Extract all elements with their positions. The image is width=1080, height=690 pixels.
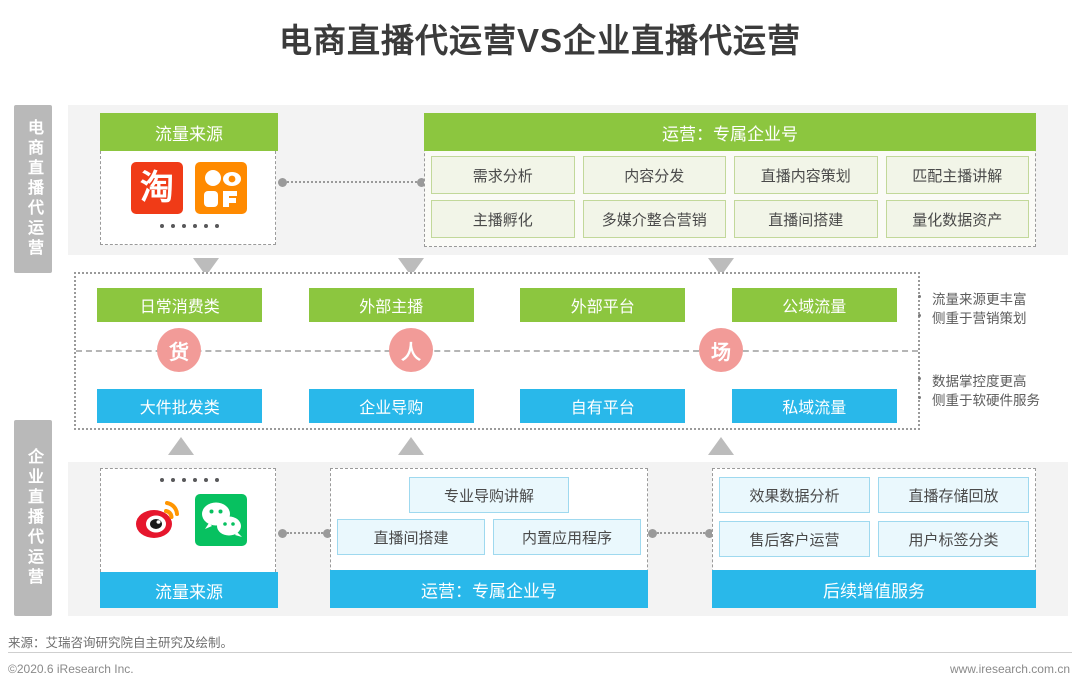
middle-blue-cell: 企业导购 <box>286 389 498 423</box>
enterprise-ops-item[interactable]: 直播间搭建 <box>337 519 485 555</box>
enterprise-ops-second-row: 直播间搭建 内置应用程序 <box>337 519 641 555</box>
ecommerce-panel: 流量来源 淘 <box>68 105 1068 255</box>
enterprise-source-footer: 流量来源 <box>100 572 278 608</box>
middle-blue-cell: 自有平台 <box>497 389 709 423</box>
wechat-logo <box>195 494 247 546</box>
ops-item[interactable]: 多媒介整合营销 <box>583 200 727 238</box>
enterprise-connector-left <box>278 528 332 538</box>
kuaishou-logo <box>195 162 247 214</box>
infographic-page: 电商直播代运营VS企业直播代运营 电商直播代运营 企业直播代运营 流量来源 淘 <box>0 0 1080 690</box>
note-top-line: 流量来源更丰富 <box>930 290 1078 309</box>
ecommerce-operations-grid: 需求分析 内容分发 直播内容策划 匹配主播讲解 主播孵化 多媒介整合营销 直播间… <box>431 156 1029 238</box>
enterprise-value-added-footer: 后续增值服务 <box>712 570 1036 608</box>
middle-blue-row: 大件批发类 企业导购 自有平台 私域流量 <box>74 389 920 423</box>
enterprise-traffic-source-block: 流量来源 <box>100 468 278 608</box>
value-added-item[interactable]: 直播存储回放 <box>878 477 1029 513</box>
note-top: 流量来源更丰富 侧重于营销策划 <box>930 290 1078 328</box>
page-title: 电商直播代运营VS企业直播代运营 <box>0 14 1080 62</box>
ops-item[interactable]: 直播内容策划 <box>734 156 878 194</box>
ecommerce-source-dots <box>101 221 277 231</box>
connector-line <box>287 532 323 534</box>
note-bottom-line: 侧重于软硬件服务 <box>930 391 1078 410</box>
website-url[interactable]: www.iresearch.com.cn <box>950 662 1070 676</box>
middle-green-cell: 外部平台 <box>497 288 709 322</box>
circle-venue: 场 <box>699 328 743 372</box>
ops-item[interactable]: 内容分发 <box>583 156 727 194</box>
middle-green-box[interactable]: 公域流量 <box>732 288 897 322</box>
enterprise-panel: 流量来源 专业导购讲解 直播间搭建 内置应用程序 运营：专属企业号 效果数据分析 <box>68 462 1068 616</box>
circle-people: 人 <box>389 328 433 372</box>
footer-divider <box>8 652 1072 653</box>
ecommerce-logo-row: 淘 <box>101 157 277 219</box>
middle-blue-box[interactable]: 企业导购 <box>309 389 474 423</box>
middle-green-cell: 外部主播 <box>286 288 498 322</box>
note-top-line: 侧重于营销策划 <box>930 309 1078 328</box>
value-added-item[interactable]: 售后客户运营 <box>719 521 870 557</box>
ecommerce-traffic-source-block: 流量来源 淘 <box>100 113 278 247</box>
enterprise-source-dots <box>101 475 277 485</box>
middle-green-row: 日常消费类 外部主播 外部平台 公域流量 <box>74 288 920 322</box>
rail-label-enterprise: 企业直播代运营 <box>14 420 52 616</box>
note-bottom: 数据掌控度更高 侧重于软硬件服务 <box>930 372 1078 410</box>
arrow-up-icon <box>708 437 734 455</box>
copyright-text: ©2020.6 iResearch Inc. <box>8 662 134 676</box>
rail-label-ecommerce: 电商直播代运营 <box>14 105 52 273</box>
ops-item[interactable]: 主播孵化 <box>431 200 575 238</box>
middle-blue-cell: 私域流量 <box>709 389 921 423</box>
source-note: 来源：艾瑞咨询研究院自主研究及绘制。 <box>8 632 233 651</box>
enterprise-value-added-block: 效果数据分析 直播存储回放 售后客户运营 用户标签分类 后续增值服务 <box>712 468 1036 608</box>
ops-item[interactable]: 直播间搭建 <box>734 200 878 238</box>
ecommerce-operations-block: 运营：专属企业号 需求分析 内容分发 直播内容策划 匹配主播讲解 主播孵化 多媒… <box>424 113 1036 247</box>
circle-goods: 货 <box>157 328 201 372</box>
ecommerce-operations-header: 运营：专属企业号 <box>424 113 1036 151</box>
ecommerce-source-body: 淘 <box>100 151 276 245</box>
enterprise-logo-row <box>101 487 277 553</box>
middle-blue-cell: 大件批发类 <box>74 389 286 423</box>
connector-line <box>657 532 705 534</box>
middle-blue-box[interactable]: 私域流量 <box>732 389 897 423</box>
ops-item[interactable]: 量化数据资产 <box>886 200 1030 238</box>
note-bullets-top <box>918 295 928 333</box>
connector-knob-left <box>278 529 287 538</box>
enterprise-ops-item[interactable]: 专业导购讲解 <box>409 477 569 513</box>
middle-divider <box>76 350 918 352</box>
arrow-up-icon <box>398 437 424 455</box>
value-added-item[interactable]: 用户标签分类 <box>878 521 1029 557</box>
value-added-item[interactable]: 效果数据分析 <box>719 477 870 513</box>
note-bottom-line: 数据掌控度更高 <box>930 372 1078 391</box>
enterprise-value-grid: 效果数据分析 直播存储回放 售后客户运营 用户标签分类 <box>719 477 1029 557</box>
ecommerce-connector <box>278 177 426 187</box>
middle-green-box[interactable]: 日常消费类 <box>97 288 262 322</box>
connector-line <box>287 181 417 183</box>
connector-knob-left <box>278 178 287 187</box>
middle-blue-box[interactable]: 自有平台 <box>520 389 685 423</box>
connector-knob-left <box>648 529 657 538</box>
enterprise-operations-footer: 运营：专属企业号 <box>330 570 648 608</box>
middle-green-cell: 日常消费类 <box>74 288 286 322</box>
ops-item[interactable]: 匹配主播讲解 <box>886 156 1030 194</box>
weibo-logo <box>131 494 183 546</box>
enterprise-operations-block: 专业导购讲解 直播间搭建 内置应用程序 运营：专属企业号 <box>330 468 648 608</box>
middle-green-box[interactable]: 外部平台 <box>520 288 685 322</box>
arrow-up-icon <box>168 437 194 455</box>
enterprise-connector-right <box>648 528 714 538</box>
ops-item[interactable]: 需求分析 <box>431 156 575 194</box>
enterprise-ops-top-row: 专业导购讲解 <box>409 477 569 513</box>
note-bullets-bottom <box>918 377 928 415</box>
ecommerce-source-header: 流量来源 <box>100 113 278 151</box>
middle-blue-box[interactable]: 大件批发类 <box>97 389 262 423</box>
enterprise-ops-item[interactable]: 内置应用程序 <box>493 519 641 555</box>
enterprise-source-body <box>100 468 276 572</box>
middle-green-box[interactable]: 外部主播 <box>309 288 474 322</box>
middle-green-cell: 公域流量 <box>709 288 921 322</box>
taobao-logo: 淘 <box>131 162 183 214</box>
